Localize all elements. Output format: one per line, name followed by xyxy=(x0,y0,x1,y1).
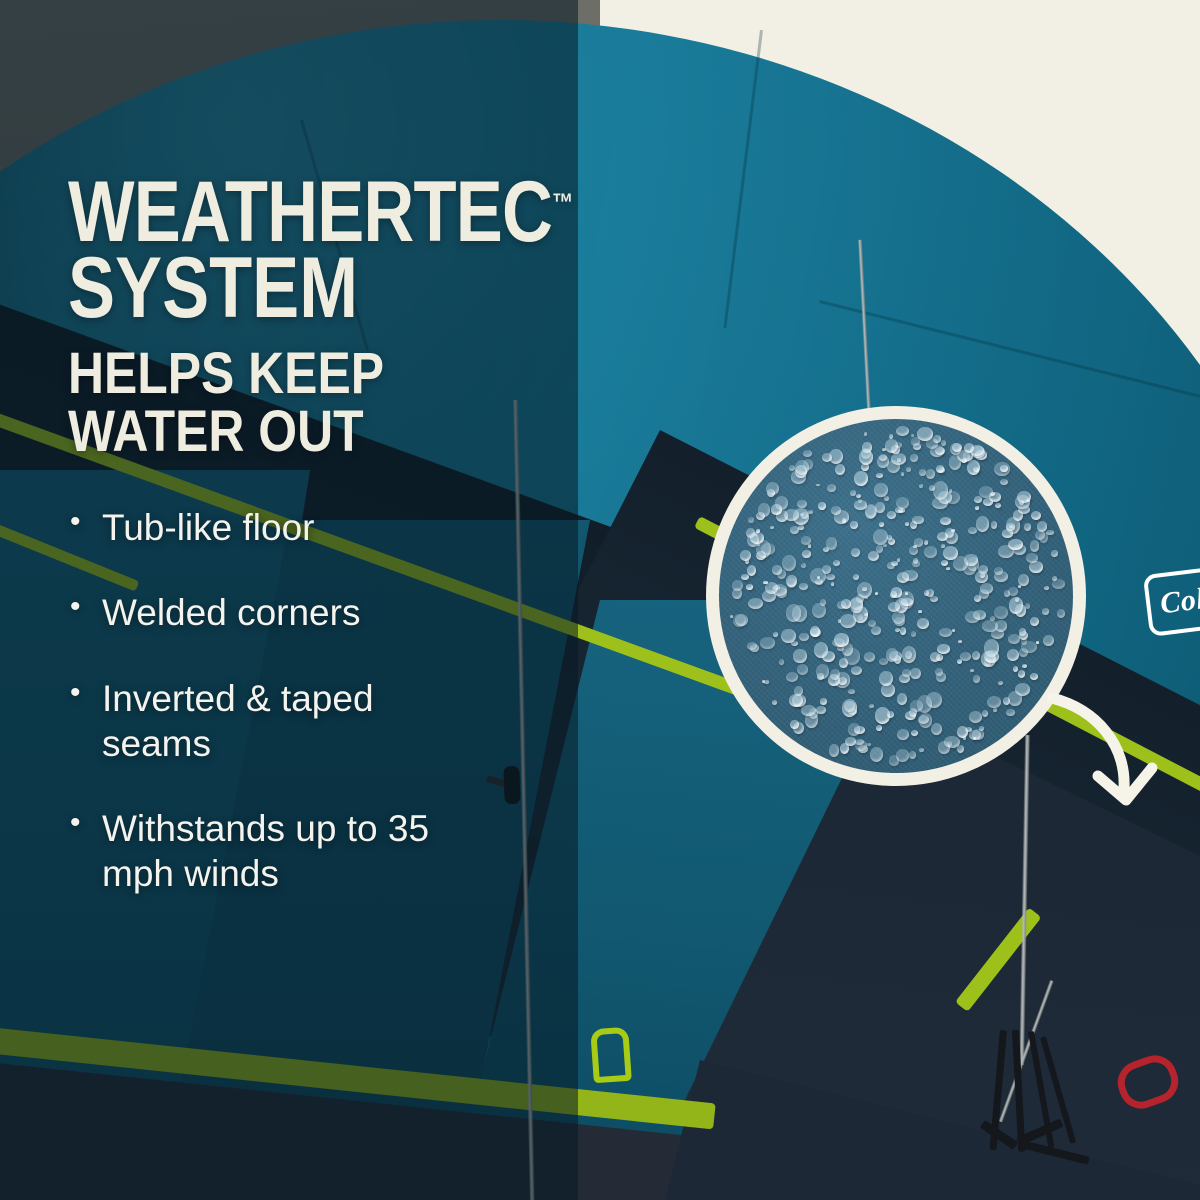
water-droplet xyxy=(1057,609,1065,618)
water-droplet xyxy=(980,573,985,578)
water-droplet xyxy=(799,583,808,590)
water-droplet xyxy=(771,504,781,515)
water-droplet xyxy=(1018,585,1021,588)
water-droplet xyxy=(883,544,886,547)
water-droplet xyxy=(869,704,874,708)
water-droplet xyxy=(919,469,926,476)
water-droplet xyxy=(910,668,921,680)
water-droplet xyxy=(879,658,888,665)
water-droplet xyxy=(924,590,929,596)
water-droplet xyxy=(936,672,946,681)
water-droplet xyxy=(887,511,896,519)
water-droplet xyxy=(801,536,811,545)
water-droplet xyxy=(786,575,797,587)
lime-pull-loop xyxy=(590,1027,632,1084)
water-droplet xyxy=(798,525,803,531)
water-droplet xyxy=(957,726,968,738)
subheading-line-1: HELPS KEEP xyxy=(68,345,472,403)
water-droplet xyxy=(979,589,989,599)
water-droplet xyxy=(946,567,949,570)
water-droplet xyxy=(748,598,763,609)
water-droplet xyxy=(789,694,803,706)
water-droplet xyxy=(851,548,860,558)
list-item: Inverted & taped seams xyxy=(68,676,468,766)
water-droplet xyxy=(793,649,806,663)
water-droplet xyxy=(854,471,868,485)
water-droplet xyxy=(850,521,857,529)
water-droplet xyxy=(947,741,952,747)
water-droplet xyxy=(797,664,808,675)
water-droplet xyxy=(772,565,781,575)
water-droplet xyxy=(750,644,758,652)
water-droplet xyxy=(991,521,998,529)
water-droplet xyxy=(772,584,787,596)
water-droplet xyxy=(917,618,929,629)
water-beading-detail-circle xyxy=(706,406,1086,786)
water-droplet xyxy=(762,680,766,683)
water-droplet xyxy=(1013,666,1018,672)
water-droplet xyxy=(1042,608,1050,615)
water-droplet xyxy=(851,666,862,675)
water-droplet xyxy=(782,555,795,571)
water-droplet xyxy=(1019,500,1024,505)
water-droplet xyxy=(809,708,818,719)
subheading-line-2: WATER OUT xyxy=(68,403,472,461)
water-droplet xyxy=(822,565,831,574)
water-droplet xyxy=(855,739,863,745)
water-droplet xyxy=(958,640,962,643)
water-droplet xyxy=(876,473,882,478)
water-droplet xyxy=(829,744,839,756)
water-droplet xyxy=(897,693,907,705)
water-droplet xyxy=(822,453,832,462)
page-title: WEATHERTEC™ xyxy=(68,176,453,250)
water-droplet xyxy=(844,648,860,665)
water-droplet xyxy=(746,584,754,590)
water-droplet xyxy=(896,426,909,436)
water-droplet xyxy=(987,696,1000,708)
water-droplet xyxy=(831,582,835,586)
water-droplet xyxy=(1015,604,1027,617)
water-droplet xyxy=(1030,673,1038,680)
water-droplet xyxy=(792,605,806,622)
water-droplet xyxy=(937,644,949,655)
water-droplet xyxy=(740,550,751,561)
water-droplet xyxy=(816,484,819,487)
water-droplet xyxy=(912,560,920,568)
water-droplet xyxy=(931,723,942,735)
water-droplet xyxy=(816,664,829,679)
water-droplet xyxy=(929,485,935,491)
water-droplet xyxy=(848,723,861,736)
curved-arrow-pointing-to-tent-base xyxy=(1040,688,1180,808)
water-droplet xyxy=(801,563,806,568)
water-droplet xyxy=(875,502,884,513)
water-droplet xyxy=(909,751,916,759)
water-droplet xyxy=(905,522,909,526)
water-droplet xyxy=(970,669,974,672)
feature-text-block: WEATHERTEC™ SYSTEM HELPS KEEP WATER OUT … xyxy=(68,176,538,936)
water-droplet xyxy=(797,500,806,508)
water-droplet xyxy=(833,560,840,566)
water-droplet xyxy=(968,527,976,534)
water-droplet xyxy=(871,626,881,635)
water-droplet xyxy=(967,460,980,475)
headline-line-2: SYSTEM xyxy=(68,250,453,327)
water-droplet xyxy=(1030,540,1040,551)
list-item: Withstands up to 35 mph winds xyxy=(68,806,468,896)
water-droplet xyxy=(976,516,990,532)
water-droplet xyxy=(812,603,826,618)
water-droplet xyxy=(850,490,855,496)
water-droplet xyxy=(1024,523,1031,531)
water-droplet xyxy=(1000,479,1008,485)
list-item: Welded corners xyxy=(68,590,468,635)
water-droplet xyxy=(936,654,943,661)
water-droplet xyxy=(876,725,882,731)
water-droplet xyxy=(767,489,775,497)
water-droplet xyxy=(895,507,902,514)
water-droplet xyxy=(795,460,809,475)
water-droplet xyxy=(914,538,923,546)
water-droplet xyxy=(918,715,929,724)
water-droplet xyxy=(799,633,809,641)
water-droplet xyxy=(772,700,777,705)
water-droplet xyxy=(810,626,820,637)
water-droplet xyxy=(803,450,812,457)
water-droplet xyxy=(937,532,947,541)
water-droplet xyxy=(853,574,859,580)
water-droplet xyxy=(864,652,875,662)
water-droplet xyxy=(994,606,1008,619)
water-droplet xyxy=(894,655,901,663)
water-droplet xyxy=(940,517,951,525)
list-item: Tub-like floor xyxy=(68,505,468,550)
water-droplet xyxy=(972,651,980,661)
water-droplet xyxy=(867,743,870,746)
water-droplet xyxy=(982,620,998,632)
water-droplet xyxy=(781,629,796,644)
water-droplet xyxy=(994,567,1003,575)
water-droplet xyxy=(889,434,893,439)
water-droplet xyxy=(848,689,855,694)
water-droplet xyxy=(982,710,988,717)
water-droplet xyxy=(840,614,856,628)
water-droplet xyxy=(910,454,918,462)
subheading: HELPS KEEP WATER OUT xyxy=(68,345,472,461)
water-droplet xyxy=(926,438,939,449)
water-droplet xyxy=(770,526,774,529)
product-feature-graphic: Coleman WEATHERTEC™ SYSTEM HELPS KEEP WA… xyxy=(0,0,1200,1200)
water-droplet xyxy=(1007,649,1019,661)
water-droplet xyxy=(889,755,900,765)
water-droplet xyxy=(879,522,885,527)
water-droplet xyxy=(879,454,887,461)
water-droplet xyxy=(939,628,952,638)
water-droplet xyxy=(912,516,923,524)
water-droplet xyxy=(1006,709,1014,716)
water-droplet xyxy=(854,500,866,510)
water-droplet xyxy=(884,496,889,501)
water-droplet xyxy=(818,502,826,510)
water-droplet xyxy=(961,458,967,463)
water-droplet xyxy=(938,467,945,473)
water-droplet xyxy=(974,496,982,502)
water-droplet xyxy=(941,440,946,446)
water-droplet xyxy=(897,729,908,740)
water-droplet xyxy=(822,651,835,663)
water-droplet xyxy=(773,632,778,637)
water-droplet xyxy=(890,591,897,598)
water-droplet xyxy=(790,526,799,534)
water-droplet xyxy=(864,432,867,435)
water-droplet xyxy=(1002,529,1013,537)
water-droplet xyxy=(802,550,811,558)
water-droplet xyxy=(735,614,748,626)
water-droplet xyxy=(850,598,862,613)
water-droplet xyxy=(747,565,756,576)
water-droplet xyxy=(905,592,908,595)
water-droplet xyxy=(894,617,905,626)
water-droplet xyxy=(841,599,851,609)
water-droplet xyxy=(879,671,893,687)
water-droplet xyxy=(888,538,895,545)
water-droplet xyxy=(845,737,856,747)
water-droplet xyxy=(1026,499,1030,502)
water-droplet xyxy=(971,446,985,459)
water-droplet xyxy=(1018,670,1026,678)
trademark-symbol: ™ xyxy=(552,187,573,217)
coleman-wordmark: Coleman xyxy=(1148,574,1200,623)
water-droplet xyxy=(902,570,917,582)
water-droplet xyxy=(835,464,845,475)
water-droplet xyxy=(1008,691,1021,706)
water-droplet xyxy=(779,659,784,664)
water-droplet xyxy=(1021,641,1037,654)
water-droplet xyxy=(998,681,1003,685)
water-droplet xyxy=(747,533,759,547)
water-droplet xyxy=(935,447,945,455)
water-droplet xyxy=(953,556,968,572)
water-droplet xyxy=(899,674,909,683)
water-droplet xyxy=(756,512,765,520)
feature-list: Tub-like floorWelded cornersInverted & t… xyxy=(68,505,468,896)
water-droplet xyxy=(859,449,873,465)
water-droplet xyxy=(826,537,837,550)
water-droplet xyxy=(732,588,742,600)
water-droplet xyxy=(790,720,798,729)
water-droplet xyxy=(874,483,887,497)
